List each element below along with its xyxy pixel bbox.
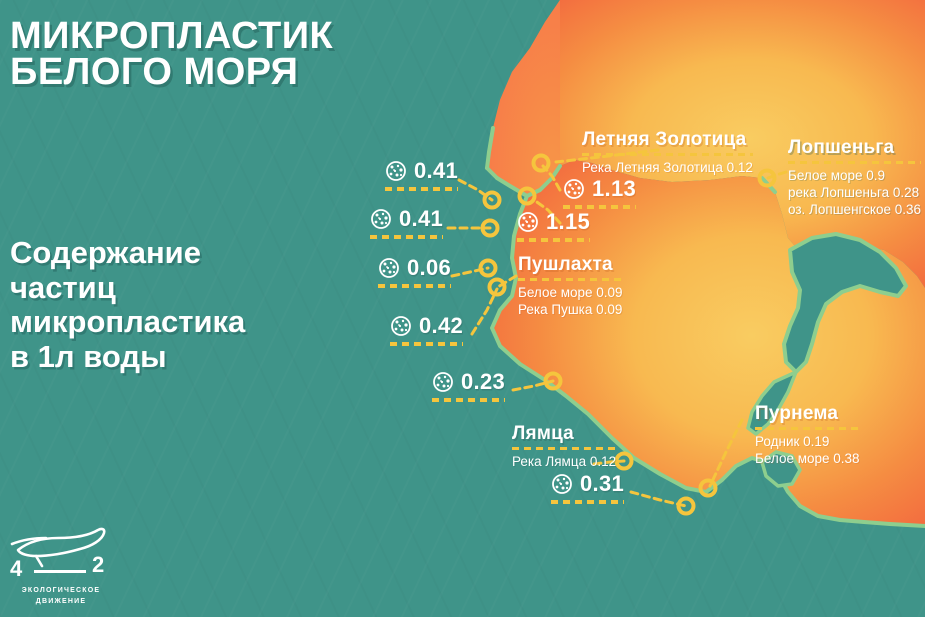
reading-value: 0.31 [580,473,624,495]
logo-caption: ЭКОЛОГИЧЕСКОЕ ДВИЖЕНИЕ [6,586,116,607]
reading-value: 0.06 [407,257,451,279]
organization-logo[interactable]: 4 2 ЭКОЛОГИЧЕСКОЕ ДВИЖЕНИЕ [6,520,116,607]
place-label-lopshenga[interactable]: Лопшеньга Белое море 0.9река Лопшеньга 0… [788,138,921,219]
place-label-purnema[interactable]: Пурнема Родник 0.19Белое море 0.38 [755,404,860,467]
place-underline [755,427,860,430]
place-underline [512,447,616,450]
reading-value: 0.41 [399,208,443,230]
microplastic-particles-icon [563,178,585,200]
reading-underline [390,342,463,346]
reading-underline [385,187,458,191]
reading-r2[interactable]: 0.41 [370,208,443,230]
reading-value: 0.23 [461,371,505,393]
place-underline [788,161,921,164]
microplastic-particles-icon [378,257,400,279]
logo-divider-bar [34,570,86,573]
place-underline [582,153,753,156]
reading-underline [551,500,624,504]
place-name: Лопшеньга [788,138,921,158]
reading-value: 0.42 [419,315,463,337]
reading-r3[interactable]: 1.13 [563,178,636,200]
page-subtitle: Содержание частиц микропластика в 1л вод… [10,236,245,375]
place-label-pushlahta[interactable]: Пушлахта Белое море 0.09Река Пушка 0.09 [518,255,623,318]
reading-r8[interactable]: 0.31 [551,473,624,495]
microplastic-particles-icon [385,160,407,182]
place-measurement-line: Река Пушка 0.09 [518,301,623,318]
logo-number-right: 2 [92,552,104,577]
seal-outline-icon: 4 2 [6,520,116,578]
reading-underline [370,235,443,239]
place-label-lyamtsa[interactable]: Лямца Река Лямца 0.12 [512,424,616,470]
reading-r5[interactable]: 0.06 [378,257,451,279]
reading-r7[interactable]: 0.23 [432,371,505,393]
reading-underline [378,284,451,288]
place-measurement-line: Река Летняя Золотица 0.12 [582,159,753,176]
place-name: Пушлахта [518,255,623,275]
place-measurement-line: Белое море 0.09 [518,284,623,301]
place-measurement-line: Река Лямца 0.12 [512,453,616,470]
microplastic-particles-icon [551,473,573,495]
reading-underline [432,398,505,402]
place-measurement-line: Родник 0.19 [755,433,860,450]
reading-value: 1.13 [592,178,636,200]
place-measurement-line: оз. Лопшенгское 0.36 [788,201,921,218]
place-name: Пурнема [755,404,860,424]
place-underline [518,278,623,281]
place-name: Лямца [512,424,616,444]
microplastic-particles-icon [432,371,454,393]
place-label-letnyaya-zolotitsa[interactable]: Летняя Золотица Река Летняя Золотица 0.1… [582,130,753,176]
page-title: МИКРОПЛАСТИК БЕЛОГО МОРЯ [10,18,333,91]
reading-value: 0.41 [414,160,458,182]
logo-number-left: 4 [10,556,23,578]
reading-value: 1.15 [546,211,590,233]
place-name: Летняя Золотица [582,130,753,150]
place-measurement-line: Белое море 0.9 [788,167,921,184]
microplastic-particles-icon [370,208,392,230]
place-measurement-line: Белое море 0.38 [755,450,860,467]
reading-r6[interactable]: 0.42 [390,315,463,337]
infographic-canvas: МИКРОПЛАСТИК БЕЛОГО МОРЯ Содержание част… [0,0,925,617]
reading-r4[interactable]: 1.15 [517,211,590,233]
microplastic-particles-icon [517,211,539,233]
reading-r1[interactable]: 0.41 [385,160,458,182]
place-measurement-line: река Лопшеньга 0.28 [788,184,921,201]
microplastic-particles-icon [390,315,412,337]
reading-underline [517,238,590,242]
